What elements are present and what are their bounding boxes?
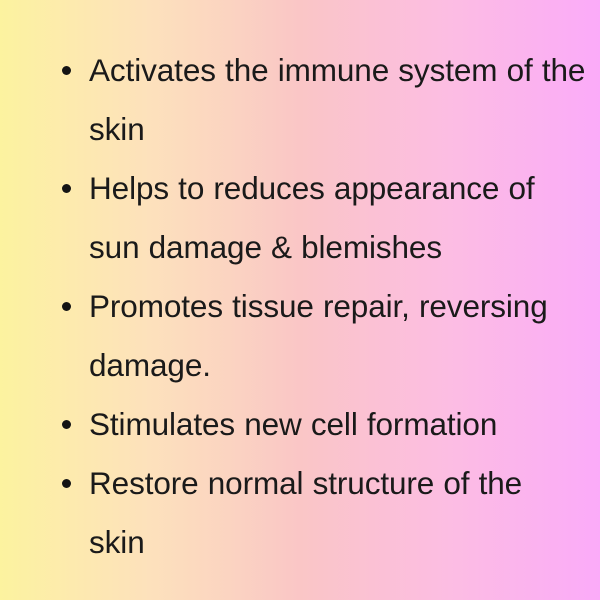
bullet-dot-icon [62,184,71,193]
bullet-dot-icon [62,66,71,75]
bullet-dot-icon [62,420,71,429]
list-item: Restore normal structure of the skin [0,454,600,572]
list-item: Promotes tissue repair, reversing damage… [0,277,600,395]
list-item-label: Restore normal structure of the skin [89,454,586,572]
bullet-dot-icon [62,479,71,488]
benefits-bullet-list: Activates the immune system of the skin … [0,0,600,572]
bullet-dot-icon [62,302,71,311]
list-item: Helps to reduces appearance of sun damag… [0,159,600,277]
list-item-label: Activates the immune system of the skin [89,41,586,159]
list-item-label: Promotes tissue repair, reversing damage… [89,277,586,395]
list-item: Stimulates new cell formation [0,395,600,454]
list-item-label: Helps to reduces appearance of sun damag… [89,159,586,277]
list-item: Activates the immune system of the skin [0,41,600,159]
slide-canvas: Activates the immune system of the skin … [0,0,600,600]
list-item-label: Stimulates new cell formation [89,395,586,454]
